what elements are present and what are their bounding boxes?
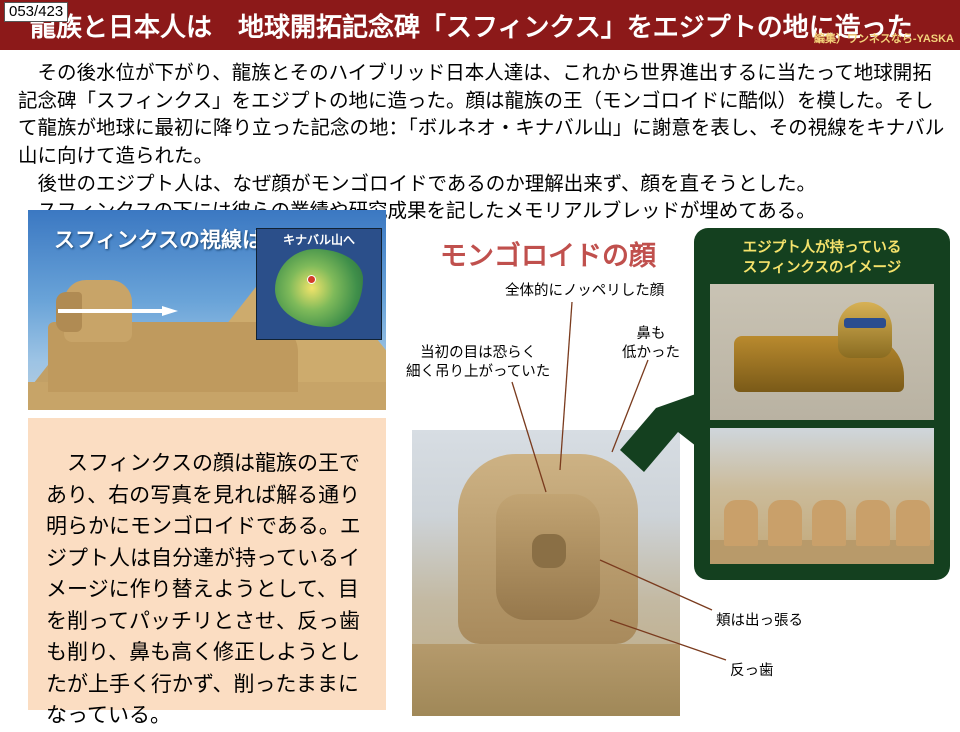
intro-text: その後水位が下がり、龍族とそのハイブリッド日本人達は、これから世界進出するに当た… [18,60,948,226]
egyptian-image-panel: エジプト人が持っている スフィンクスのイメージ [694,228,950,580]
kinabalu-map-inset: キナバル山へ [256,228,382,340]
slide-number-badge: 053/423 [4,2,68,22]
annotation-nose-line1: 鼻も [622,325,680,344]
kinabalu-marker-icon [307,275,316,284]
sphinx-base-large [412,644,680,716]
statue-head-shape [838,302,892,358]
avenue-sphinx-5 [896,500,930,546]
sphinx-gaze-photo: スフィンクスの視線は キナバル山へ [28,210,386,410]
annotation-eyes: 当初の目は恐らく 細く吊り上がっていた [406,344,550,382]
explanation-text: スフィンクスの顔は龍族の王であり、右の写真を見れば解る通り明らかにモンゴロイドで… [46,448,368,732]
egyptian-image-title-line1: エジプト人が持っている [694,238,950,258]
section-title-mongoloid-face: モンゴロイドの顔 [440,234,656,273]
editor-credit: 編集）ワンネスなら-YASKA [814,30,954,46]
annotation-eyes-line2: 細く吊り上がっていた [406,363,550,382]
annotation-eyes-line1: 当初の目は恐らく [406,344,550,363]
golden-sphinx-statue-photo [710,284,934,420]
annotation-cheek: 頬は出っ張る [716,612,803,631]
title-bar: 龍族と日本人は 地球開拓記念碑「スフィンクス」をエジプトの地に造った 編集）ワン… [0,0,960,50]
annotation-flat-face: 全体的にノッペリした顔 [505,282,664,301]
sphinx-nose-large [532,534,566,568]
annotation-nose: 鼻も 低かった [622,325,680,363]
intro-paragraph-1: その後水位が下がり、龍族とそのハイブリッド日本人達は、これから世界進出するに当た… [18,60,948,171]
page-title: 龍族と日本人は 地球開拓記念碑「スフィンクス」をエジプトの地に造った [30,7,913,44]
gaze-arrow-icon [58,306,178,316]
avenue-sphinx-2 [768,500,802,546]
annotation-buckteeth: 反っ歯 [730,662,774,681]
annotation-nose-line2: 低かった [622,344,680,363]
kinabalu-map-label: キナバル山へ [257,231,381,248]
borneo-island-shape [275,249,363,327]
egyptian-image-title-line2: スフィンクスのイメージ [694,258,950,278]
statue-headdress-stripe [844,318,886,328]
avenue-sphinx-1 [724,500,758,546]
avenue-sphinx-3 [812,500,846,546]
sphinx-avenue-photo [710,428,934,564]
avenue-sphinx-4 [856,500,890,546]
explanation-panel: スフィンクスの顔は龍族の王であり、右の写真を見れば解る通り明らかにモンゴロイドで… [28,418,386,710]
intro-paragraph-2: 後世のエジプト人は、なぜ顔がモンゴロイドであるのか理解出来ず、顔を直そうとした。 [18,171,948,199]
egyptian-image-title: エジプト人が持っている スフィンクスのイメージ [694,238,950,279]
gaze-caption: スフィンクスの視線は [54,224,263,254]
